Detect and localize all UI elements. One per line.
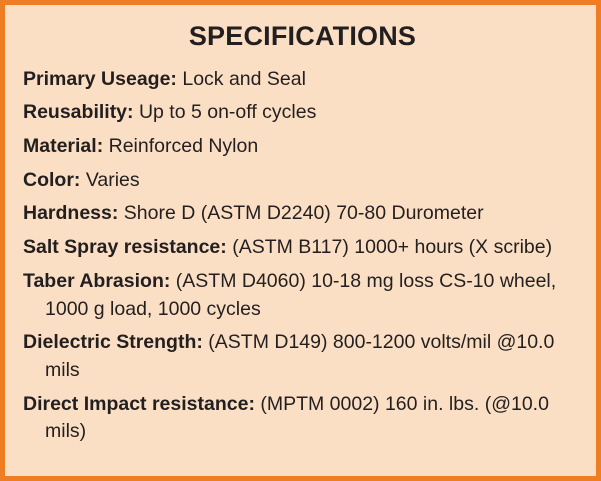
spec-label: Taber Abrasion: — [23, 270, 170, 292]
spec-label: Primary Useage: — [23, 68, 177, 90]
spec-row: Salt Spray resistance: (ASTM B117) 1000+… — [23, 234, 582, 262]
spec-value: (ASTM B117) 1000+ hours (X scribe) — [232, 236, 552, 258]
spec-row: Hardness: Shore D (ASTM D2240) 70-80 Dur… — [23, 200, 582, 228]
spec-label: Color: — [23, 169, 80, 191]
spec-row: Reusability: Up to 5 on-off cycles — [23, 99, 582, 127]
spec-label: Material: — [23, 135, 103, 157]
spec-label: Dielectric Strength: — [23, 331, 203, 353]
spec-row: Primary Useage: Lock and Seal — [23, 66, 582, 94]
spec-value: Lock and Seal — [182, 68, 306, 90]
spec-row: Direct Impact resistance: (MPTM 0002) 16… — [23, 391, 582, 446]
spec-row: Taber Abrasion: (ASTM D4060) 10-18 mg lo… — [23, 268, 582, 323]
spec-row: Dielectric Strength: (ASTM D149) 800-120… — [23, 329, 582, 384]
page-title: SPECIFICATIONS — [23, 22, 582, 52]
spec-label: Direct Impact resistance: — [23, 393, 255, 415]
specifications-list: Primary Useage: Lock and Seal Reusabilit… — [23, 66, 582, 446]
spec-label: Salt Spray resistance: — [23, 236, 227, 258]
spec-value: Shore D (ASTM D2240) 70-80 Durometer — [124, 202, 484, 224]
spec-value: Reinforced Nylon — [109, 135, 259, 157]
spec-label: Hardness: — [23, 202, 118, 224]
spec-value: Varies — [86, 169, 140, 191]
specifications-panel: SPECIFICATIONS Primary Useage: Lock and … — [0, 0, 601, 481]
spec-row: Color: Varies — [23, 167, 582, 195]
spec-row: Material: Reinforced Nylon — [23, 133, 582, 161]
spec-value: Up to 5 on-off cycles — [139, 101, 316, 123]
spec-label: Reusability: — [23, 101, 134, 123]
